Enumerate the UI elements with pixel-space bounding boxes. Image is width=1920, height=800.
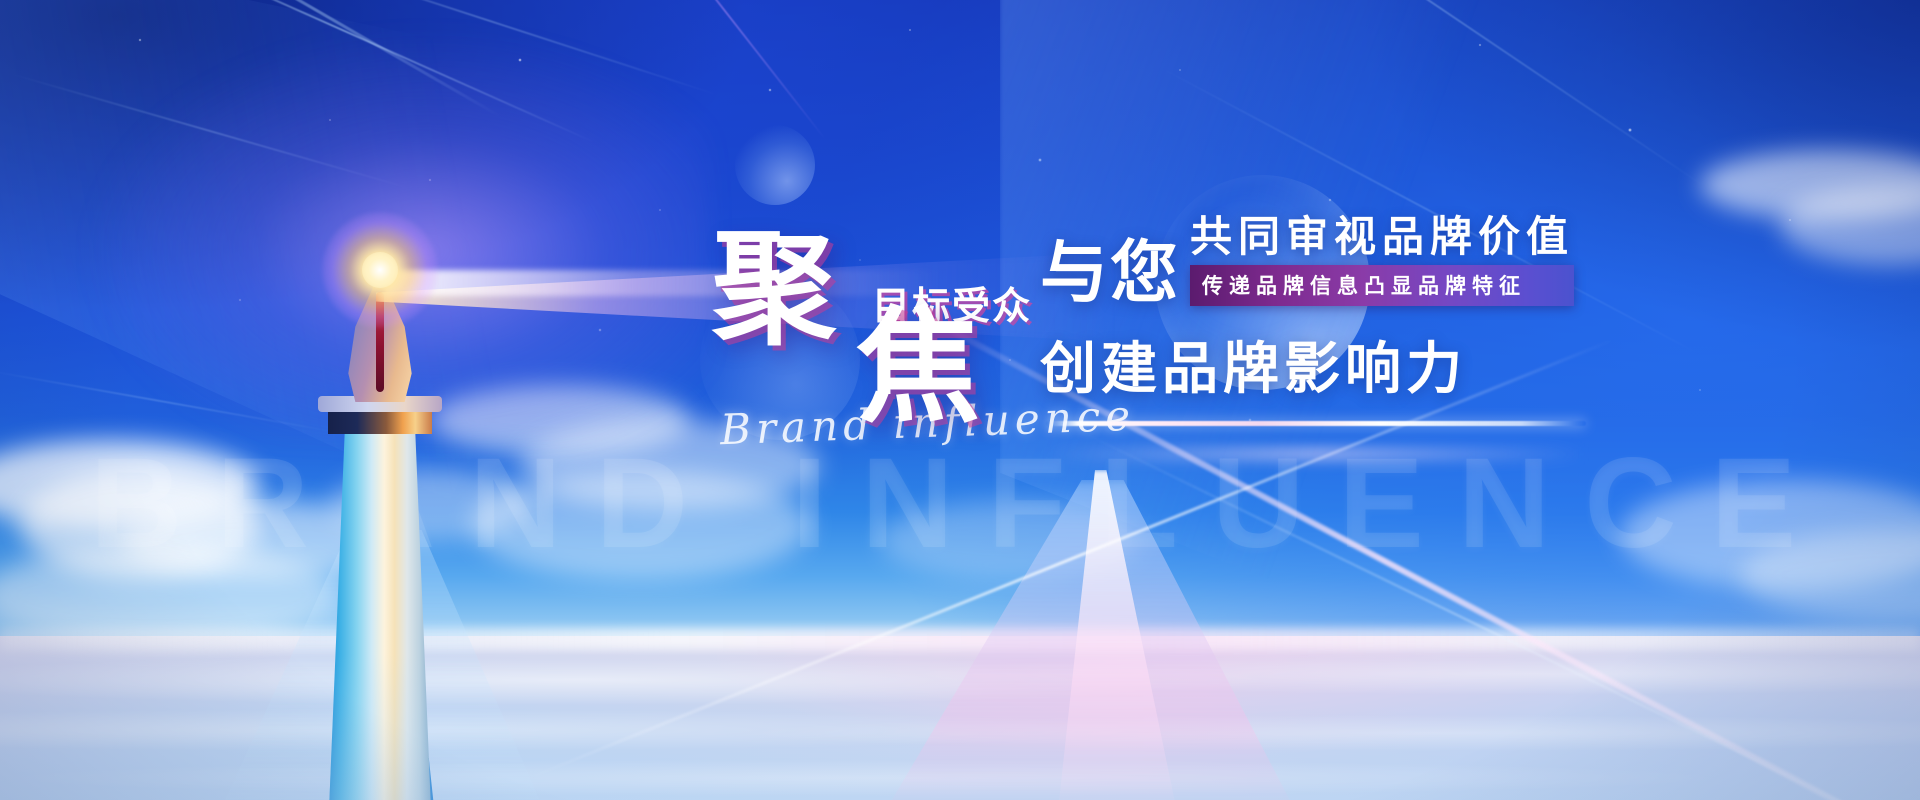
planet-small-icon <box>735 125 815 205</box>
horizon-glow <box>0 628 1920 650</box>
headline-char-jiao: 焦 <box>856 306 980 430</box>
headline-row: 与您 共同审视品牌价值 传递品牌信息凸显品牌特征 <box>1040 215 1600 308</box>
status-badge: 传递品牌信息凸显品牌特征 <box>1190 265 1574 306</box>
decorative-underline <box>1046 421 1586 426</box>
headline-main: 共同审视品牌价值 <box>1190 215 1574 259</box>
right-text-block: 与您 共同审视品牌价值 传递品牌信息凸显品牌特征 创建品牌影响力 <box>1040 215 1600 426</box>
with-you-text: 与您 <box>1040 240 1180 308</box>
beacon-light-icon <box>362 252 398 288</box>
tower-collar-band <box>328 410 432 434</box>
underline-glow <box>1046 447 1586 461</box>
subheadline: 创建品牌影响力 <box>1040 324 1600 405</box>
headline-column: 共同审视品牌价值 传递品牌信息凸显品牌特征 <box>1190 215 1574 308</box>
headline-char-ju: 聚 <box>712 228 836 352</box>
brand-banner: BRAND INFLUENCE Brand influence 聚 <box>0 0 1920 800</box>
tower-shading <box>328 434 432 800</box>
beacon-beam-core <box>384 270 944 296</box>
cloud-icon <box>470 470 810 580</box>
lighthouse-pen-illustration <box>300 230 460 800</box>
